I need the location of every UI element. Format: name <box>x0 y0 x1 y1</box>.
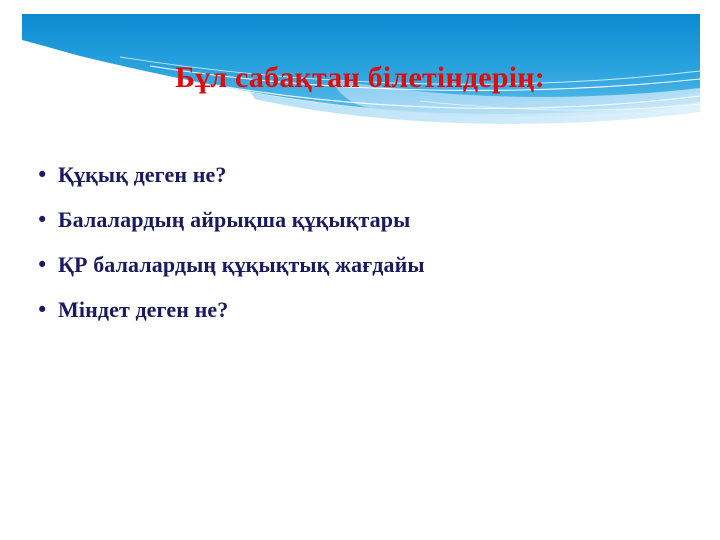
list-item: • Балалардың айрықша құқықтары <box>36 205 686 250</box>
list-item-label: ҚР балалардың құқықтық жағдайы <box>58 250 686 280</box>
list-item: • Құқық деген не? <box>36 160 686 205</box>
wave-line-lower-2 <box>420 101 700 110</box>
list-item: • Міндет деген не? <box>36 295 686 340</box>
list-item-label: Балалардың айрықша құқықтары <box>58 205 686 235</box>
page-title: Бұл сабақтан білетіндерің: <box>0 62 720 94</box>
list-item-label: Құқық деген не? <box>58 160 686 190</box>
slide-canvas: Бұл сабақтан білетіндерің: • Құқық деген… <box>0 0 720 540</box>
bullet-dot-icon: • <box>36 250 58 280</box>
list-item-label: Міндет деген не? <box>58 295 686 325</box>
bullet-list: • Құқық деген не? • Балалардың айрықша қ… <box>36 160 686 340</box>
bullet-dot-icon: • <box>36 160 58 190</box>
list-item: • ҚР балалардың құқықтық жағдайы <box>36 250 686 295</box>
wave-band-lower <box>250 92 700 124</box>
bullet-dot-icon: • <box>36 205 58 235</box>
bullet-dot-icon: • <box>36 295 58 325</box>
